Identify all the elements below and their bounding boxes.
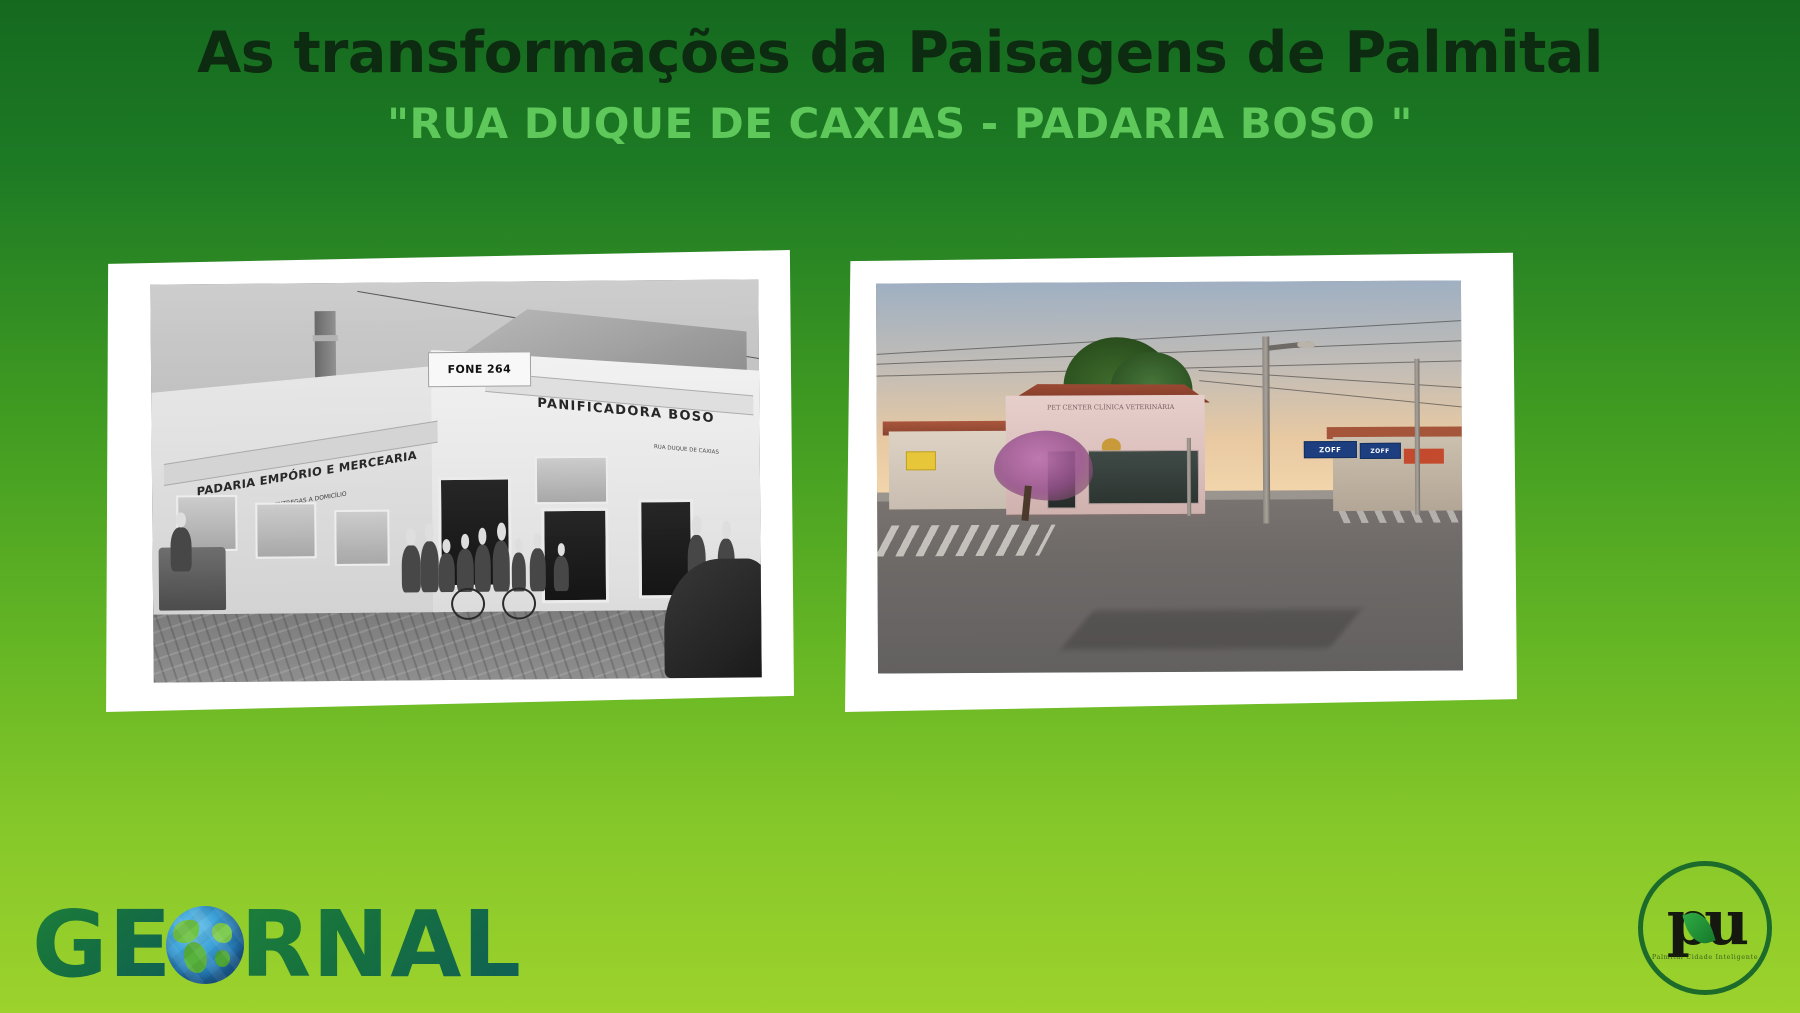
- page-subtitle: "RUA DUQUE DE CAXIAS - PADARIA BOSO ": [0, 99, 1800, 148]
- modern-street-lamp: [1297, 342, 1315, 348]
- historic-window: [256, 502, 317, 558]
- historic-street-barrel: [159, 547, 226, 611]
- modern-utility-pole: [1415, 359, 1421, 515]
- historic-person: [420, 541, 439, 593]
- photo-modern: PET CENTER CLÍNICA VETERINÁRIA ZOFF ZOFF: [876, 280, 1463, 673]
- historic-person: [171, 527, 192, 571]
- historic-sign-phone: FONE 264: [427, 351, 531, 388]
- historic-bicycle: [451, 580, 536, 621]
- photo-historic: FONE 264 PADARIA EMPÓRIO E MERCEARIA ENT…: [150, 279, 761, 682]
- historic-person: [402, 545, 421, 593]
- slide-root: As transformações da Paisagens de Palmit…: [0, 0, 1800, 1013]
- modern-shop-window: [1087, 450, 1198, 505]
- photo-frame-historic[interactable]: FONE 264 PADARIA EMPÓRIO E MERCEARIA ENT…: [104, 250, 794, 712]
- historic-person: [554, 556, 569, 592]
- modern-crosswalk: [876, 524, 1055, 556]
- historic-window: [335, 509, 390, 565]
- modern-yellow-sign: [906, 451, 935, 471]
- modern-sign-zoff: ZOFF: [1304, 441, 1357, 459]
- historic-window: [535, 456, 608, 504]
- modern-road-shadow: [1060, 609, 1362, 650]
- historic-scene: FONE 264 PADARIA EMPÓRIO E MERCEARIA ENT…: [150, 279, 761, 682]
- seal-caption: Palmital Cidade Inteligente: [1652, 953, 1758, 961]
- modern-shop-banner: [1403, 448, 1444, 464]
- geornal-logo-text-before: GE: [32, 899, 172, 991]
- modern-sign-post: [1187, 438, 1192, 516]
- geornal-logo-text-after: RNAL: [240, 899, 522, 991]
- modern-scene: PET CENTER CLÍNICA VETERINÁRIA ZOFF ZOFF: [876, 280, 1463, 673]
- leaf-icon: [1682, 908, 1715, 948]
- modern-utility-pole: [1262, 336, 1269, 523]
- page-title: As transformações da Paisagens de Palmit…: [0, 18, 1800, 89]
- geornal-logo[interactable]: GE RNAL: [32, 899, 522, 991]
- historic-shop-door: [541, 508, 609, 604]
- modern-sign-zoff: ZOFF: [1359, 443, 1400, 460]
- photo-frame-modern[interactable]: PET CENTER CLÍNICA VETERINÁRIA ZOFF ZOFF: [845, 250, 1517, 712]
- title-block: As transformações da Paisagens de Palmit…: [0, 18, 1800, 148]
- globe-icon: [166, 906, 244, 984]
- seal-monogram: pu: [1667, 895, 1743, 951]
- seal-logo[interactable]: pu Palmital Cidade Inteligente: [1638, 861, 1772, 995]
- modern-building-sign: PET CENTER CLÍNICA VETERINÁRIA: [1035, 403, 1187, 431]
